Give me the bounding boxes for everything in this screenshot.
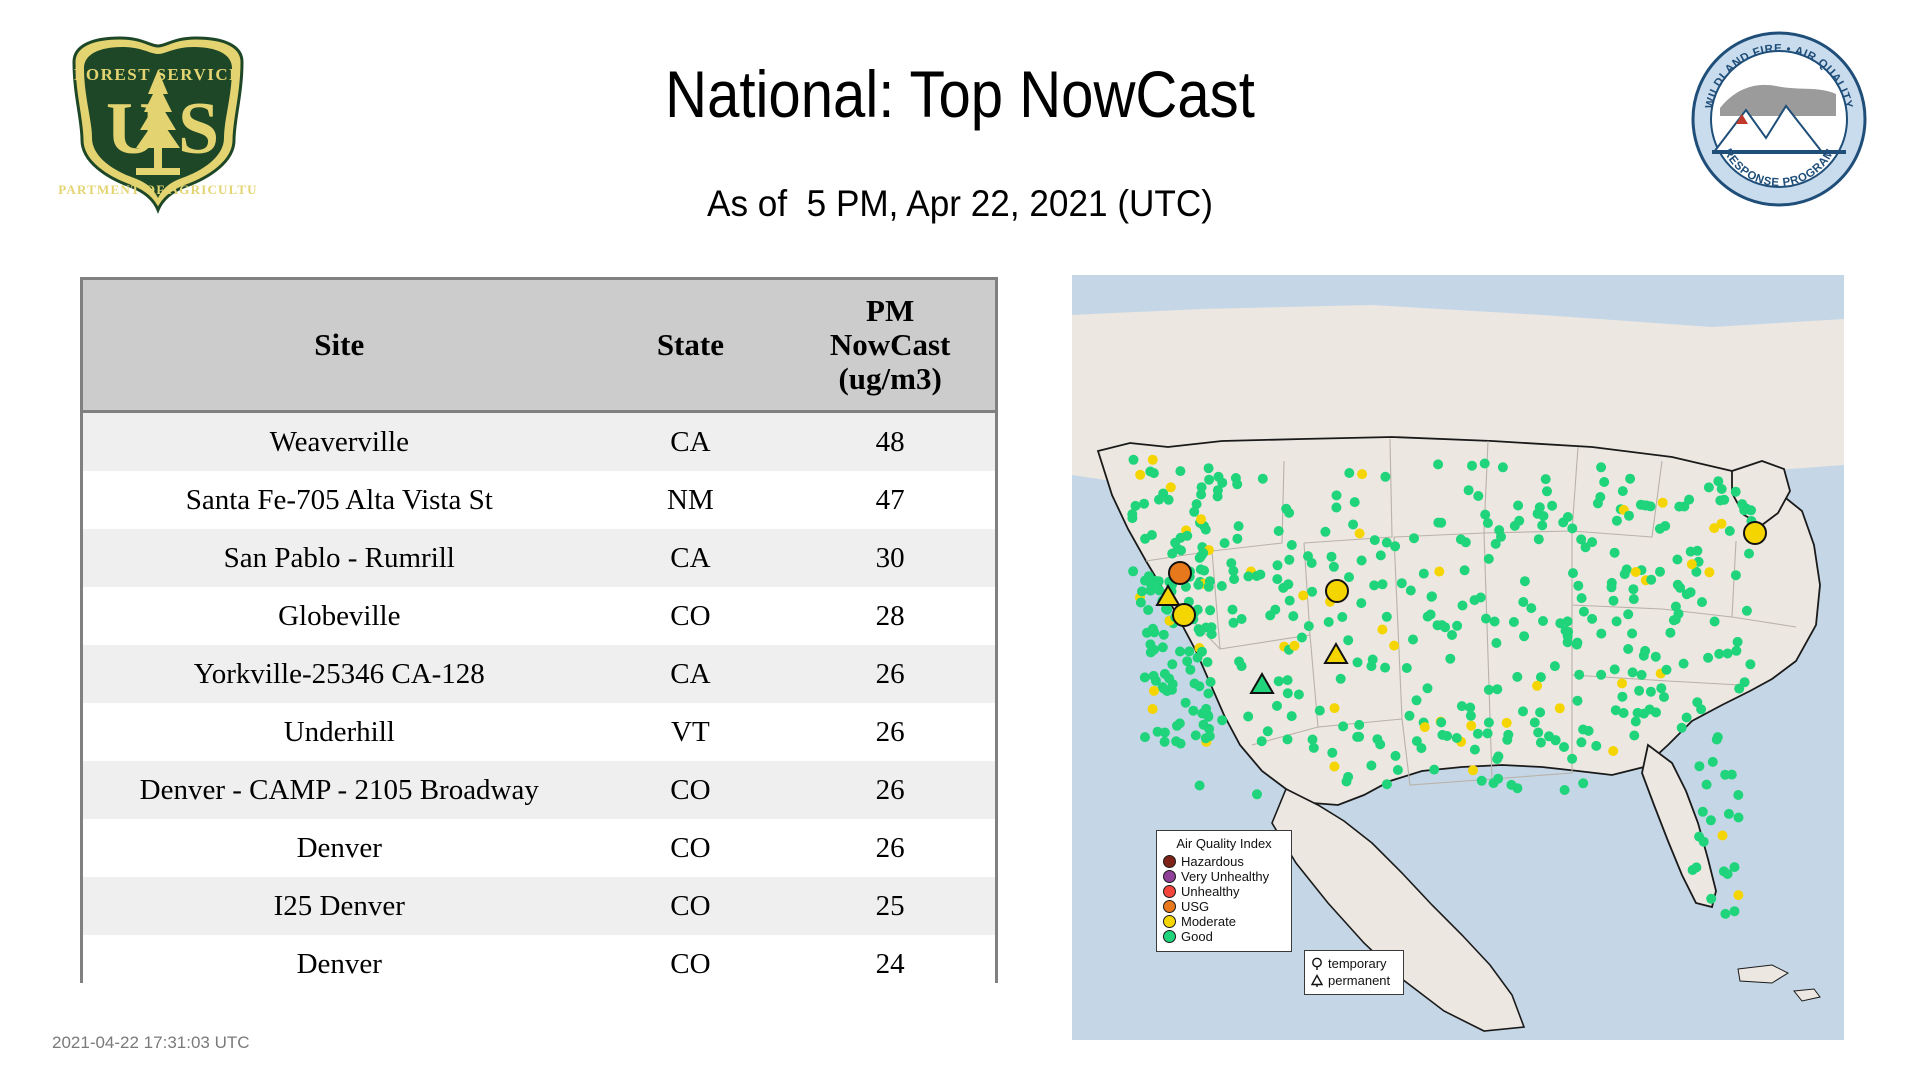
monitor-point <box>1539 511 1549 521</box>
row-state: CA <box>596 412 786 472</box>
monitor-point <box>1518 706 1528 716</box>
monitor-point <box>1160 737 1170 747</box>
header-line-2: NowCast <box>830 327 951 362</box>
monitor-point <box>1555 703 1565 713</box>
monitor-point <box>1265 610 1275 620</box>
monitor-point <box>1572 640 1582 650</box>
row-site: Yorkville-25346 CA-128 <box>83 645 596 703</box>
monitor-point <box>1536 738 1546 748</box>
national-aqi-map[interactable]: Air Quality Index HazardousVery Unhealth… <box>1072 275 1844 1040</box>
monitor-point <box>1470 595 1480 605</box>
aqi-color-swatch <box>1163 855 1176 868</box>
row-value: 26 <box>785 703 995 761</box>
monitor-point <box>1197 647 1207 657</box>
monitor-point <box>1287 711 1297 721</box>
table-row: I25 DenverCO25 <box>83 877 995 935</box>
row-state: VT <box>596 703 786 761</box>
monitor-point <box>1617 678 1627 688</box>
monitor-point <box>1717 484 1727 494</box>
monitor-point <box>1307 587 1317 597</box>
row-state: CO <box>596 877 786 935</box>
legend-label-temporary: temporary <box>1328 956 1387 971</box>
aqi-color-swatch <box>1163 885 1176 898</box>
monitor-point <box>1337 612 1347 622</box>
monitor-point <box>1620 569 1630 579</box>
row-value: 47 <box>785 471 995 529</box>
monitor-point <box>1640 500 1650 510</box>
monitor-point <box>1656 683 1666 693</box>
monitor-point <box>1199 720 1209 730</box>
monitor-point <box>1536 672 1546 682</box>
monitor-point <box>1353 657 1363 667</box>
monitor-point <box>1217 581 1227 591</box>
monitor-point <box>1148 455 1158 465</box>
column-header-state: State <box>596 280 786 412</box>
monitor-point <box>1665 628 1675 638</box>
aqi-color-swatch <box>1163 870 1176 883</box>
monitor-point <box>1164 495 1174 505</box>
legend-item-permanent: permanent <box>1310 972 1398 989</box>
monitor-point <box>1217 478 1227 488</box>
row-value: 26 <box>785 819 995 877</box>
monitor-point <box>1204 463 1214 473</box>
monitor-point <box>1452 621 1462 631</box>
monitor-point <box>1692 546 1702 556</box>
monitor-point <box>1154 495 1164 505</box>
monitor-point <box>1393 765 1403 775</box>
monitor-point <box>1526 603 1536 613</box>
row-site: Globeville <box>83 587 596 645</box>
monitor-point <box>1706 894 1716 904</box>
monitor-point <box>1659 692 1669 702</box>
monitor-point <box>1538 616 1548 626</box>
monitor-point <box>1228 605 1238 615</box>
monitor-point <box>1433 620 1443 630</box>
monitor-point <box>1160 728 1170 738</box>
header-line: Site <box>314 327 364 362</box>
monitor-point <box>1406 586 1416 596</box>
top-site-marker[interactable] <box>1173 604 1195 626</box>
monitor-point <box>1182 656 1192 666</box>
monitor-point <box>1708 757 1718 767</box>
top-nowcast-table: Site State PM NowCast (ug/m3) Weavervill… <box>80 277 998 983</box>
monitor-point <box>1740 677 1750 687</box>
header-line-1: PM <box>866 293 914 328</box>
monitor-point <box>1560 785 1570 795</box>
monitor-point <box>1591 741 1601 751</box>
monitor-point <box>1344 572 1354 582</box>
aqi-legend-label: USG <box>1181 899 1209 914</box>
monitor-point <box>1518 597 1528 607</box>
row-site: Denver <box>83 819 596 877</box>
monitor-point <box>1426 610 1436 620</box>
monitor-point <box>1714 649 1724 659</box>
monitor-point <box>1129 455 1139 465</box>
monitor-point <box>1135 470 1145 480</box>
monitor-point <box>1631 567 1641 577</box>
table-row: San Pablo - RumrillCA30 <box>83 529 995 587</box>
monitor-point <box>1204 582 1214 592</box>
monitor-point <box>1612 516 1622 526</box>
monitor-point <box>1433 518 1443 528</box>
monitor-point <box>1145 467 1155 477</box>
monitor-point <box>1357 469 1367 479</box>
monitor-point <box>1734 813 1744 823</box>
monitor-point <box>1350 497 1360 507</box>
aqi-legend-item: USG <box>1163 899 1285 914</box>
monitor-point <box>1733 637 1743 647</box>
monitor-point <box>1445 654 1455 664</box>
monitor-point <box>1456 534 1466 544</box>
monitor-point <box>1380 472 1390 482</box>
monitor-point <box>1674 609 1684 619</box>
monitor-point <box>1625 474 1635 484</box>
monitor-point <box>1608 746 1618 756</box>
monitor-point <box>1611 705 1621 715</box>
monitor-point <box>1308 735 1318 745</box>
monitor-point <box>1274 526 1284 536</box>
monitor-point <box>1489 778 1499 788</box>
monitor-point <box>1574 670 1584 680</box>
monitor-point <box>1199 566 1209 576</box>
monitor-point <box>1234 521 1244 531</box>
monitor-point <box>1628 584 1638 594</box>
monitor-point <box>1577 593 1587 603</box>
monitor-point <box>1332 490 1342 500</box>
row-state: NM <box>596 471 786 529</box>
monitor-point <box>1506 780 1516 790</box>
monitor-point <box>1568 568 1578 578</box>
top-site-marker[interactable] <box>1169 562 1191 584</box>
column-header-site: Site <box>83 280 596 412</box>
monitor-point <box>1481 614 1491 624</box>
monitor-point <box>1298 591 1308 601</box>
monitor-point <box>1581 542 1591 552</box>
monitor-point <box>1731 570 1741 580</box>
monitor-point <box>1596 670 1606 680</box>
monitor-point <box>1143 605 1153 615</box>
monitor-point <box>1703 653 1713 663</box>
monitor-point <box>1484 554 1494 564</box>
table-row: Yorkville-25346 CA-128CA26 <box>83 645 995 703</box>
top-site-marker[interactable] <box>1326 580 1348 602</box>
monitor-point <box>1196 514 1206 524</box>
monitor-point <box>1532 681 1542 691</box>
monitor-point <box>1412 695 1422 705</box>
monitor-point <box>1229 574 1239 584</box>
monitor-point <box>1140 534 1150 544</box>
aqi-legend-label: Unhealthy <box>1181 884 1240 899</box>
monitor-point <box>1634 686 1644 696</box>
aqi-legend-item: Unhealthy <box>1163 884 1285 899</box>
table-row: UnderhillVT26 <box>83 703 995 761</box>
row-value: 30 <box>785 529 995 587</box>
monitor-point <box>1617 692 1627 702</box>
monitor-point <box>1658 498 1668 508</box>
monitor-point <box>1662 665 1672 675</box>
monitor-point <box>1715 496 1725 506</box>
monitor-point <box>1193 580 1203 590</box>
monitor-point <box>1651 652 1661 662</box>
monitor-point <box>1167 549 1177 559</box>
monitor-point <box>1255 570 1265 580</box>
monitor-point <box>1697 597 1707 607</box>
monitor-point <box>1718 831 1728 841</box>
header-line-3: (ug/m3) <box>838 361 941 396</box>
table-row: GlobevilleCO28 <box>83 587 995 645</box>
aqi-legend-label: Moderate <box>1181 914 1236 929</box>
monitor-point <box>1458 601 1468 611</box>
monitor-point <box>1176 739 1186 749</box>
monitor-point <box>1593 498 1603 508</box>
header-line: State <box>657 327 724 362</box>
monitor-point <box>1473 491 1483 501</box>
monitor-point <box>1480 459 1490 469</box>
monitor-point <box>1730 906 1740 916</box>
monitor-point <box>1530 718 1540 728</box>
monitor-point <box>1535 502 1545 512</box>
row-value: 24 <box>785 935 995 993</box>
table-row: Santa Fe-705 Alta Vista StNM47 <box>83 471 995 529</box>
monitor-point <box>1320 527 1330 537</box>
legend-label-permanent: permanent <box>1328 973 1390 988</box>
aqi-legend-item: Very Unhealthy <box>1163 869 1285 884</box>
monitor-point <box>1672 555 1682 565</box>
monitor-point <box>1175 466 1185 476</box>
monitor-point <box>1382 612 1392 622</box>
monitor-point <box>1561 626 1571 636</box>
monitor-point <box>1338 721 1348 731</box>
monitor-point <box>1587 614 1597 624</box>
monitor-point <box>1315 706 1325 716</box>
monitor-point <box>1483 728 1493 738</box>
monitor-point <box>1232 534 1242 544</box>
monitor-point <box>1354 732 1364 742</box>
monitor-point <box>1727 770 1737 780</box>
monitor-point <box>1397 578 1407 588</box>
monitor-point <box>1191 730 1201 740</box>
monitor-point <box>1473 729 1483 739</box>
monitor-point <box>1136 598 1146 608</box>
monitor-point <box>1547 501 1557 511</box>
monitor-point <box>1541 474 1551 484</box>
monitor-point <box>1375 739 1385 749</box>
monitor-point <box>1567 754 1577 764</box>
table-header-row: Site State PM NowCast (ug/m3) <box>83 280 995 412</box>
aqi-legend-label: Good <box>1181 929 1213 944</box>
aqi-legend-label: Hazardous <box>1181 854 1244 869</box>
monitor-point <box>1220 538 1230 548</box>
monitor-point <box>1344 468 1354 478</box>
aqi-legend-label: Very Unhealthy <box>1181 869 1269 884</box>
generated-timestamp: 2021-04-22 17:31:03 UTC <box>52 1033 250 1053</box>
monitor-point <box>1467 461 1477 471</box>
monitor-point <box>1148 578 1158 588</box>
monitor-point <box>1389 641 1399 651</box>
monitor-point <box>1436 717 1446 727</box>
row-site: Underhill <box>83 703 596 761</box>
monitor-point <box>1263 726 1273 736</box>
monitor-point <box>1694 761 1704 771</box>
circle-marker-icon <box>1310 957 1324 971</box>
monitor-point <box>1357 556 1367 566</box>
monitor-point <box>1159 630 1169 640</box>
monitor-point <box>1309 743 1319 753</box>
monitor-point <box>1382 538 1392 548</box>
monitor-point <box>1203 689 1213 699</box>
monitor-point <box>1483 518 1493 528</box>
monitor-point <box>1190 679 1200 689</box>
row-state: CO <box>596 587 786 645</box>
monitor-point <box>1137 586 1147 596</box>
monitor-point <box>1466 721 1476 731</box>
monitor-point <box>1197 482 1207 492</box>
monitor-point <box>1343 635 1353 645</box>
aqi-legend-item: Hazardous <box>1163 854 1285 869</box>
monitor-point <box>1534 534 1544 544</box>
aqi-color-swatch <box>1163 930 1176 943</box>
monitor-point <box>1674 502 1684 512</box>
page-subtitle: As of 5 PM, Apr 22, 2021 (UTC) <box>48 182 1872 226</box>
monitor-point <box>1148 704 1158 714</box>
monitor-point <box>1273 560 1283 570</box>
monitor-point <box>1297 633 1307 643</box>
monitor-point <box>1742 606 1752 616</box>
monitor-point <box>1596 462 1606 472</box>
monitor-point <box>1725 526 1735 536</box>
monitor-point <box>1535 707 1545 717</box>
monitor-point <box>1491 638 1501 648</box>
monitor-point <box>1699 837 1709 847</box>
monitor-point <box>1391 751 1401 761</box>
monitor-point <box>1205 605 1215 615</box>
column-header-pm-nowcast: PM NowCast (ug/m3) <box>785 280 995 412</box>
monitor-point <box>1378 579 1388 589</box>
site-type-legend: temporary permanent <box>1304 950 1404 995</box>
monitor-point <box>1162 605 1172 615</box>
row-state: CO <box>596 935 786 993</box>
monitor-point <box>1368 655 1378 665</box>
monitor-point <box>1563 512 1573 522</box>
monitor-point <box>1573 581 1583 591</box>
monitor-point <box>1194 624 1204 634</box>
monitor-point <box>1257 736 1267 746</box>
monitor-point <box>1307 558 1317 568</box>
monitor-point <box>1629 731 1639 741</box>
monitor-point <box>1496 532 1506 542</box>
monitor-point <box>1327 552 1337 562</box>
monitor-point <box>1498 462 1508 472</box>
monitor-point <box>1623 609 1633 619</box>
monitor-point <box>1745 659 1755 669</box>
monitor-point <box>1551 735 1561 745</box>
monitor-point <box>1610 548 1620 558</box>
monitor-point <box>1140 732 1150 742</box>
monitor-point <box>1627 629 1637 639</box>
monitor-point <box>1633 708 1643 718</box>
monitor-point <box>1629 594 1639 604</box>
monitor-point <box>1452 733 1462 743</box>
row-state: CO <box>596 761 786 819</box>
monitor-point <box>1509 617 1519 627</box>
monitor-point <box>1366 761 1376 771</box>
monitor-point <box>1274 676 1284 686</box>
monitor-point <box>1712 735 1722 745</box>
top-site-marker[interactable] <box>1744 522 1766 544</box>
table-row: WeavervilleCA48 <box>83 412 995 472</box>
monitor-point <box>1234 657 1244 667</box>
monitor-point <box>1176 533 1186 543</box>
monitor-point <box>1702 780 1712 790</box>
aqi-legend-item: Moderate <box>1163 914 1285 929</box>
monitor-point <box>1201 704 1211 714</box>
monitor-point <box>1706 815 1716 825</box>
monitor-point <box>1159 684 1169 694</box>
monitor-point <box>1655 567 1665 577</box>
monitor-point <box>1698 807 1708 817</box>
monitor-point <box>1427 592 1437 602</box>
row-site: Santa Fe-705 Alta Vista St <box>83 471 596 529</box>
monitor-point <box>1484 718 1494 728</box>
page-title: National: Top NowCast <box>115 55 1805 133</box>
row-value: 25 <box>785 877 995 935</box>
monitor-point <box>1584 726 1594 736</box>
monitor-point <box>1258 474 1268 484</box>
monitor-point <box>1329 562 1339 572</box>
row-state: CA <box>596 529 786 587</box>
monitor-point <box>1376 550 1386 560</box>
monitor-point <box>1673 580 1683 590</box>
monitor-point <box>1679 659 1689 669</box>
monitor-point <box>1704 482 1714 492</box>
monitor-point <box>1737 499 1747 509</box>
triangle-marker-icon <box>1310 974 1324 988</box>
monitor-point <box>1405 711 1415 721</box>
monitor-point <box>1646 575 1656 585</box>
monitor-point <box>1578 778 1588 788</box>
monitor-point <box>1348 520 1358 530</box>
monitor-point <box>1612 616 1622 626</box>
monitor-point <box>1329 762 1339 772</box>
monitor-point <box>1252 789 1262 799</box>
row-value: 28 <box>785 587 995 645</box>
monitor-point <box>1283 579 1293 589</box>
monitor-point <box>1158 642 1168 652</box>
monitor-point <box>1520 576 1530 586</box>
monitor-point <box>1559 742 1569 752</box>
row-state: CA <box>596 645 786 703</box>
monitor-point <box>1684 495 1694 505</box>
monitor-point <box>1437 730 1447 740</box>
monitor-point <box>1744 549 1754 559</box>
monitor-point <box>1468 765 1478 775</box>
monitor-point <box>1290 641 1300 651</box>
monitor-point <box>1720 909 1730 919</box>
monitor-point <box>1717 519 1727 529</box>
table-row: Denver - CAMP - 2105 BroadwayCO26 <box>83 761 995 819</box>
monitor-point <box>1492 684 1502 694</box>
monitor-point <box>1724 809 1734 819</box>
monitor-point <box>1189 507 1199 517</box>
monitor-point <box>1205 731 1215 741</box>
monitor-point <box>1609 596 1619 606</box>
aqi-color-swatch <box>1163 900 1176 913</box>
monitor-point <box>1354 720 1364 730</box>
monitor-point <box>1217 715 1227 725</box>
monitor-point <box>1637 670 1647 680</box>
monitor-point <box>1550 661 1560 671</box>
monitor-point <box>1342 777 1352 787</box>
